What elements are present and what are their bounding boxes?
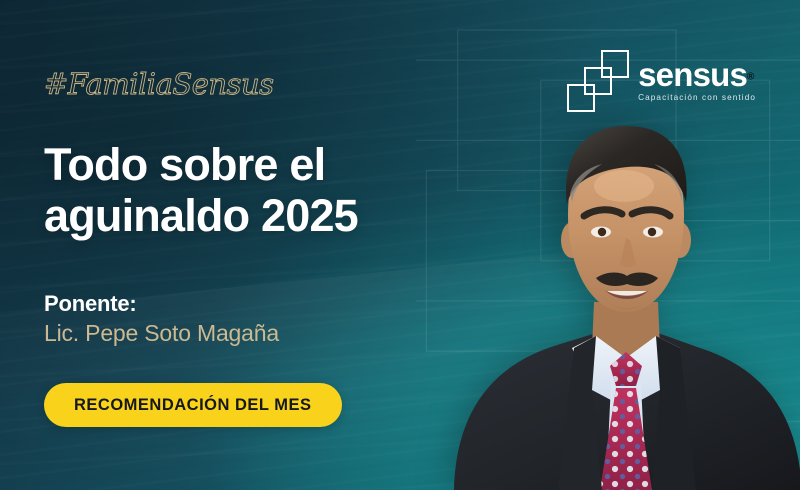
webinar-promo-banner: #FamiliaSensus sensus® Capacitación con … <box>0 0 800 490</box>
title-line-2: aguinaldo 2025 <box>44 191 464 242</box>
registered-trademark-icon: ® <box>747 72 754 83</box>
recommendation-badge-button[interactable]: RECOMENDACIÓN DEL MES <box>44 383 342 427</box>
page-title: Todo sobre el aguinaldo 2025 <box>44 140 464 242</box>
logo-wordmark: sensus <box>638 58 747 91</box>
speaker-block: Ponente: Lic. Pepe Soto Magaña <box>44 290 464 349</box>
speaker-name: Lic. Pepe Soto Magaña <box>44 319 464 349</box>
hashtag-text: #FamiliaSensus <box>44 67 274 101</box>
speaker-label: Ponente: <box>44 290 464 318</box>
hashtag-script: #FamiliaSensus <box>44 60 274 108</box>
pupil-left <box>598 228 606 236</box>
pupil-right <box>648 228 656 236</box>
forehead-highlight <box>594 170 654 202</box>
speaker-photo <box>446 90 800 490</box>
copy-block: Todo sobre el aguinaldo 2025 Ponente: Li… <box>44 140 464 427</box>
title-line-1: Todo sobre el <box>44 140 464 191</box>
